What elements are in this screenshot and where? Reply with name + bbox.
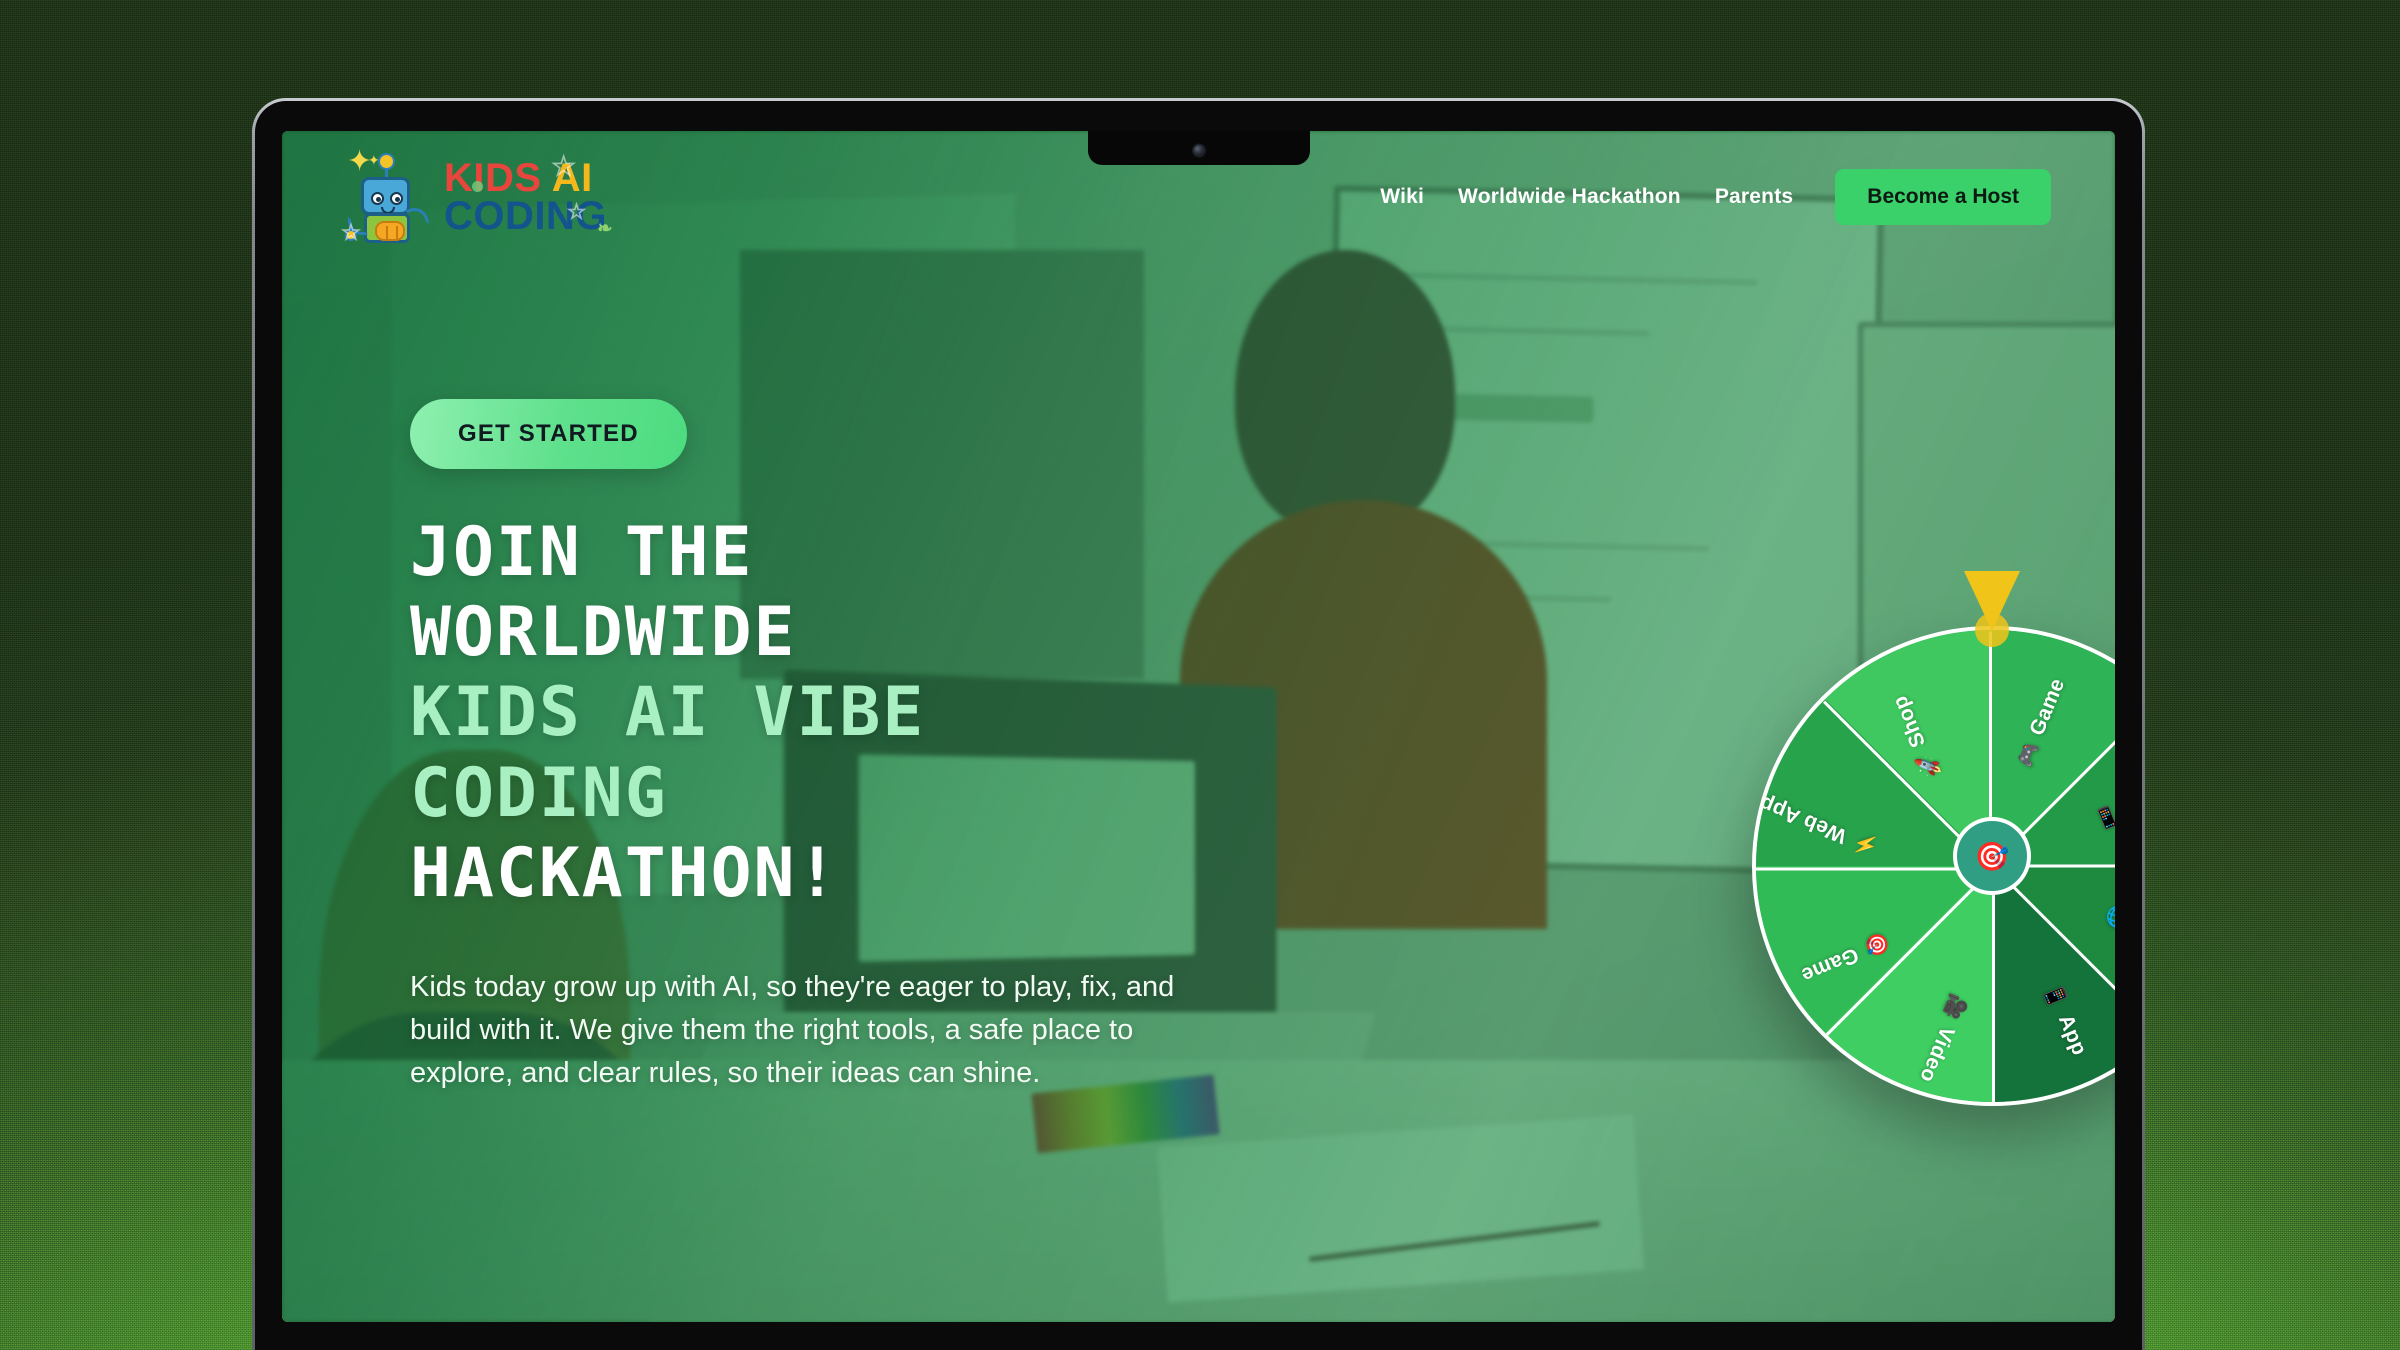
website-content: ✦ ✦: [282, 131, 2115, 1322]
laptop-bezel: ✦ ✦: [255, 101, 2142, 1350]
nav-link-wiki[interactable]: Wiki: [1380, 185, 1424, 209]
laptop-device-mockup: ✦ ✦: [252, 98, 2145, 1350]
wheel-segment-emoji-icon: 🎮: [2012, 738, 2045, 771]
wheel-segment-emoji-icon: ⚡: [1849, 829, 1882, 862]
hero-text-column: GET STARTED JOIN THE WORLDWIDE KIDS AI V…: [410, 399, 1310, 1095]
nav-link-worldwide-hackathon[interactable]: Worldwide Hackathon: [1458, 185, 1681, 209]
laptop-screen: ✦ ✦: [282, 131, 2115, 1322]
wheel-segment-emoji-icon: 🎯: [1861, 928, 1894, 961]
become-a-host-button[interactable]: Become a Host: [1835, 169, 2051, 225]
brain-icon: [375, 221, 405, 241]
dot-decoration: [472, 181, 483, 192]
nav-link-parents[interactable]: Parents: [1715, 185, 1793, 209]
wheel-pointer-icon: [1957, 571, 2027, 657]
star-outline-icon-2: ★: [568, 203, 585, 222]
get-started-button[interactable]: GET STARTED: [410, 399, 687, 469]
primary-navigation: Wiki Worldwide Hackathon Parents Become …: [1380, 169, 2051, 225]
headline-line-4: CODING: [410, 754, 1310, 834]
wheel-center-hub[interactable]: 🎯: [1953, 817, 2031, 895]
wheel-segment-emoji-icon: 📱: [2039, 979, 2072, 1012]
laptop-lid: ✦ ✦: [252, 98, 2145, 1350]
spin-wheel-widget[interactable]: 🎮Game📱Social🌐Website📱App🎥Video🎯Game⚡Web …: [1697, 561, 2115, 1151]
hero-headline: JOIN THE WORLDWIDE KIDS AI VIBE CODING H…: [410, 513, 1310, 914]
star-outline-icon-3: ★: [342, 223, 360, 243]
prize-wheel[interactable]: 🎮Game📱Social🌐Website📱App🎥Video🎯Game⚡Web …: [1752, 626, 2115, 1106]
headline-line-3: KIDS AI VIBE: [410, 673, 1310, 753]
headline-line-2: WORLDWIDE: [410, 593, 1310, 673]
brand-logo[interactable]: ✦ ✦: [344, 151, 607, 243]
wheel-segment-emoji-icon: 📱: [2090, 801, 2115, 834]
camera-icon: [1193, 145, 1204, 156]
headline-line-5: HACKATHON!: [410, 834, 1310, 914]
wheel-segment-emoji-icon: 🎥: [1940, 991, 1973, 1024]
brand-wordmark: KIDS AI CODING ❧: [444, 159, 607, 235]
leaf-icon: ❧: [597, 220, 613, 237]
wheel-segment-emoji-icon: 🚀: [1912, 750, 1945, 783]
star-outline-icon-1: ★: [552, 153, 575, 179]
laptop-notch: [1088, 131, 1310, 165]
hero-paragraph: Kids today grow up with AI, so they're e…: [410, 966, 1210, 1095]
headline-line-1: JOIN THE: [410, 513, 1310, 593]
